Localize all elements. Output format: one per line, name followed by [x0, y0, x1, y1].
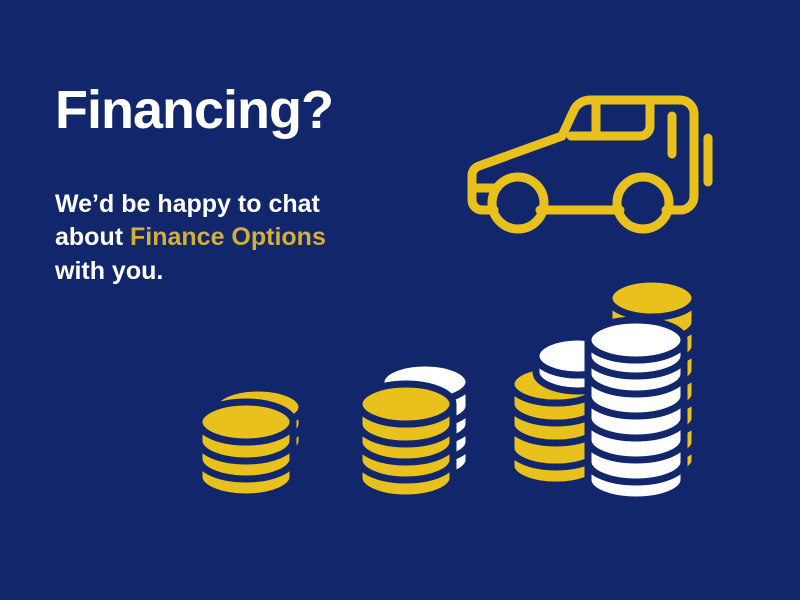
coin-stack-front-large — [588, 320, 684, 500]
coin-group-medium — [359, 363, 469, 498]
subtitle-line-1: We’d be happy to chat — [55, 190, 320, 218]
page-title: Financing? — [55, 82, 333, 139]
financing-slide: Financing? We’d be happy to chat about F… — [0, 0, 800, 600]
subtitle-line-3: with you. — [55, 257, 163, 285]
coin-stack-back-medium — [381, 363, 469, 479]
subtitle-text: We’d be happy to chat about Finance Opti… — [55, 188, 385, 288]
front-wheel-icon — [492, 177, 544, 229]
coin-stack-left-large — [511, 365, 601, 485]
suv-car-icon — [444, 72, 744, 237]
coin-group-small — [199, 388, 302, 497]
coin-stack-back-small — [214, 388, 302, 460]
coin-stack-back-large — [609, 279, 695, 479]
coin-stack-front-medium — [359, 384, 453, 498]
coin-stack-front-small — [199, 420, 293, 497]
rear-wheel-icon — [617, 177, 669, 229]
coin-accent-white — [536, 337, 620, 391]
coin-group-large — [511, 279, 695, 500]
subtitle-line-2-prefix: about — [55, 223, 130, 251]
subtitle-highlight: Finance Options — [130, 223, 326, 251]
